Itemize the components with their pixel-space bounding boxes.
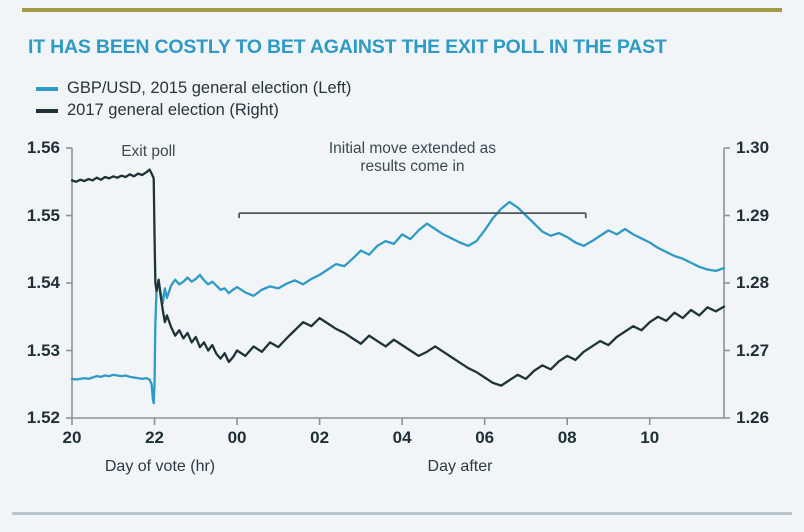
chart-figure: IT HAS BEEN COSTLY TO BET AGAINST THE EX…	[0, 0, 804, 532]
xtick-label: 06	[455, 428, 515, 448]
xtick-label: 22	[125, 428, 185, 448]
xtick-label: 00	[207, 428, 267, 448]
ytick-left-label: 1.53	[0, 341, 60, 361]
xtick-label: 08	[537, 428, 597, 448]
series-line-2017	[72, 170, 724, 386]
annotation-initial-move: Initial move extended asresults come in	[262, 140, 562, 176]
xaxis-caption-right: Day after	[370, 458, 550, 476]
ytick-left-label: 1.54	[0, 273, 60, 293]
xaxis-caption-left: Day of vote (hr)	[60, 458, 260, 476]
chart-svg	[0, 0, 804, 532]
ytick-right-label: 1.28	[736, 273, 769, 293]
xtick-label: 20	[42, 428, 102, 448]
annotation-exit-poll: Exit poll	[68, 143, 228, 161]
xtick-label: 04	[372, 428, 432, 448]
series-line-2015	[72, 202, 724, 403]
ytick-left-label: 1.55	[0, 206, 60, 226]
ytick-left-label: 1.52	[0, 408, 60, 428]
ytick-right-label: 1.30	[736, 138, 769, 158]
xtick-label: 02	[290, 428, 350, 448]
ytick-right-label: 1.29	[736, 206, 769, 226]
ytick-right-label: 1.27	[736, 341, 769, 361]
annotation-bracket	[239, 213, 586, 218]
annotation-initial-move-line2: results come in	[262, 158, 562, 176]
annotation-initial-move-line1: Initial move extended as	[262, 140, 562, 158]
xtick-label: 10	[620, 428, 680, 448]
bottom-rule	[12, 512, 792, 515]
ytick-right-label: 1.26	[736, 408, 769, 428]
plot-area	[0, 0, 804, 532]
ytick-left-label: 1.56	[0, 138, 60, 158]
